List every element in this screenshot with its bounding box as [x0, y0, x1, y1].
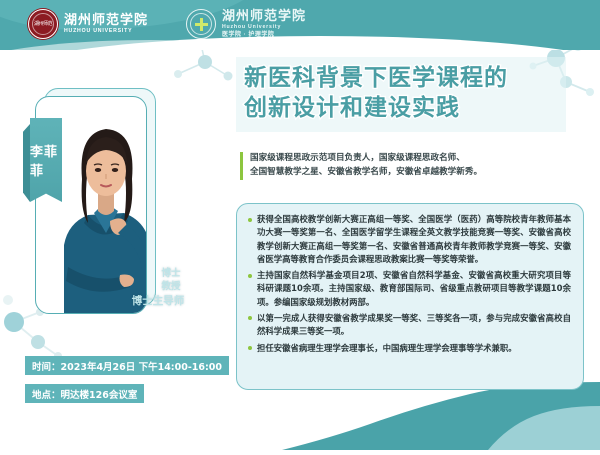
speaker-name-char-1: 李菲菲 — [30, 141, 62, 179]
list-item: 担任安徽省病理生理学会理事长，中国病理生理学会理事等学术兼职。 — [248, 342, 571, 355]
logo-name-cn: 湖州师范学院 — [64, 14, 148, 27]
bullet-dot-icon — [248, 274, 252, 278]
logo-name-sub: 医学院 · 护理学院 — [222, 32, 306, 38]
ribbon-tail — [23, 124, 30, 202]
university-seal-icon: 湖州师范 — [28, 9, 58, 39]
molecule-icon-bottom-left — [4, 308, 62, 360]
bullet-dot-icon — [248, 346, 252, 350]
lecture-title: 新医科背景下医学课程的 创新设计和建设实践 — [236, 57, 566, 132]
credential-degree: 博士 — [128, 268, 214, 281]
list-item: 以第一完成人获得安徽省教学成果奖一等奖、三等奖各一项，参与完成安徽省高校自然科学… — [248, 312, 571, 339]
event-place: 地点：明达楼126会议室 — [25, 384, 144, 403]
college-seal-icon — [186, 9, 216, 39]
dot-decoration — [3, 295, 13, 305]
achievement-text: 主持国家自然科学基金项目2项、安徽省自然科学基金、安徽省高校重大研究项目等科研课… — [257, 269, 571, 309]
logo-name-cn: 湖州师范学院 — [222, 10, 306, 23]
bullet-dot-icon — [248, 316, 252, 320]
medical-nursing-college-logo: 湖州师范学院 Huzhou University 医学院 · 护理学院 — [186, 9, 306, 39]
speaker-honors-summary: 国家级课程思政示范项目负责人，国家级课程思政名师、 全国智慧教学之星、安徽省教学… — [240, 152, 580, 180]
title-line-2: 创新设计和建设实践 — [244, 93, 558, 123]
list-item: 主持国家自然科学基金项目2项、安徽省自然科学基金、安徽省高校重大研究项目等科研课… — [248, 269, 571, 309]
huzhou-university-logo: 湖州师范 湖州师范学院 HUZHOU UNIVERSITY — [28, 9, 148, 39]
achievement-text: 担任安徽省病理生理学会理事长，中国病理生理学会理事等学术兼职。 — [257, 342, 517, 355]
achievement-text: 获得全国高校教学创新大赛正高组一等奖、全国医学（医药）高等院校青年教师基本功大赛… — [257, 213, 571, 266]
achievements-card: 获得全国高校教学创新大赛正高组一等奖、全国医学（医药）高等院校青年教师基本功大赛… — [236, 203, 584, 390]
subtitle-line-2: 全国智慧教学之星、安徽省教学名师，安徽省卓越教学新秀。 — [250, 166, 580, 180]
logo-name-en: Huzhou University — [222, 25, 306, 30]
speaker-name-ribbon: 李菲菲 — [30, 118, 62, 202]
credential-rank: 教授 — [128, 281, 214, 294]
list-item: 获得全国高校教学创新大赛正高组一等奖、全国医学（医药）高等院校青年教师基本功大赛… — [248, 213, 571, 266]
title-line-1: 新医科背景下医学课程的 — [244, 63, 558, 93]
bullet-dot-icon — [248, 218, 252, 222]
achievement-text: 以第一完成人获得安徽省教学成果奖一等奖、三等奖各一项，参与完成安徽省高校自然科学… — [257, 312, 571, 339]
logo-name-en: HUZHOU UNIVERSITY — [64, 29, 148, 34]
medical-cross-icon — [195, 18, 208, 31]
speaker-name: 李菲菲 — [30, 118, 62, 202]
event-time: 时间：2023年4月26日 下午14:00-16:00 — [25, 356, 229, 375]
speaker-credentials: 博士 教授 博士生导师 — [128, 268, 214, 308]
seal-glyph: 湖州师范 — [34, 22, 52, 27]
credential-advisor: 博士生导师 — [102, 294, 214, 308]
subtitle-line-1: 国家级课程思政示范项目负责人，国家级课程思政名师、 — [250, 152, 580, 166]
